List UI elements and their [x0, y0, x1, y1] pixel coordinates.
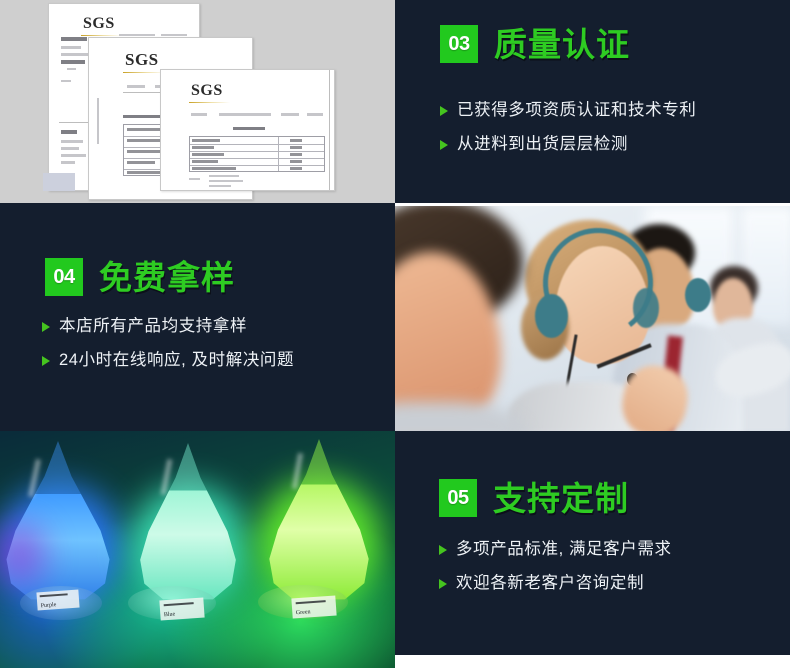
list-item-label: 欢迎各新老客户咨询定制 [456, 573, 644, 594]
product-detail-page: SGS SGS [0, 0, 790, 672]
section-number-badge: 05 [439, 479, 477, 517]
flask-label-text: Green [296, 610, 311, 617]
section-title: 支持定制 [493, 482, 629, 515]
bottom-spacer [395, 655, 790, 672]
flask-label: Blue [159, 597, 204, 620]
list-item-label: 多项产品标准, 满足客户需求 [456, 539, 672, 560]
list-item: 多项产品标准, 满足客户需求 [439, 539, 672, 560]
arrow-right-icon [440, 140, 448, 150]
glow-powder-photo: Purple Blue Green [0, 431, 395, 668]
list-item: 欢迎各新老客户咨询定制 [439, 573, 672, 594]
list-item-label: 24小时在线响应, 及时解决问题 [59, 350, 294, 371]
arrow-right-icon [42, 322, 50, 332]
list-item-label: 从进料到出货层层检测 [457, 134, 628, 155]
sgs-logo: SGS [191, 82, 223, 100]
list-item: 24小时在线响应, 及时解决问题 [42, 350, 294, 371]
list-item: 本店所有产品均支持拿样 [42, 316, 294, 337]
flask-label: Purple [36, 590, 79, 611]
sgs-logo: SGS [125, 50, 159, 70]
section-title: 免费拿样 [99, 261, 235, 294]
flask-sample [136, 443, 240, 601]
section-number-badge: 03 [440, 25, 478, 63]
list-item-label: 本店所有产品均支持拿样 [59, 316, 247, 337]
quality-certification-panel: 03 质量认证 已获得多项资质认证和技术专利 从进料到出货层层检测 [395, 0, 790, 203]
flask-label-text: Blue [164, 612, 176, 619]
certificates-panel: SGS SGS [0, 0, 395, 203]
quality-bullet-list: 已获得多项资质认证和技术专利 从进料到出货层层检测 [440, 100, 696, 167]
list-item-label: 已获得多项资质认证和技术专利 [457, 100, 696, 121]
arrow-right-icon [439, 579, 447, 589]
call-center-photo [395, 206, 790, 431]
custom-support-panel: 05 支持定制 多项产品标准, 满足客户需求 欢迎各新老客户咨询定制 [395, 431, 790, 655]
flask-label: Green [291, 595, 336, 618]
section-number-badge: 04 [45, 258, 83, 296]
sample-bullet-list: 本店所有产品均支持拿样 24小时在线响应, 及时解决问题 [42, 316, 294, 383]
document-corner-block [43, 173, 75, 191]
flask-sample [265, 439, 373, 601]
list-item: 已获得多项资质认证和技术专利 [440, 100, 696, 121]
arrow-right-icon [42, 356, 50, 366]
certificate-document: SGS [160, 69, 335, 191]
list-item: 从进料到出货层层检测 [440, 134, 696, 155]
flask-label-text: Purple [41, 602, 57, 609]
sgs-logo: SGS [83, 15, 115, 33]
arrow-right-icon [440, 106, 448, 116]
support-bullet-list: 多项产品标准, 满足客户需求 欢迎各新老客户咨询定制 [439, 539, 672, 606]
section-title: 质量认证 [494, 28, 630, 61]
bottom-spacer-left [0, 668, 395, 672]
free-sample-panel: 04 免费拿样 本店所有产品均支持拿样 24小时在线响应, 及时解决问题 [0, 203, 395, 431]
arrow-right-icon [439, 545, 447, 555]
flask-sample [2, 441, 114, 601]
